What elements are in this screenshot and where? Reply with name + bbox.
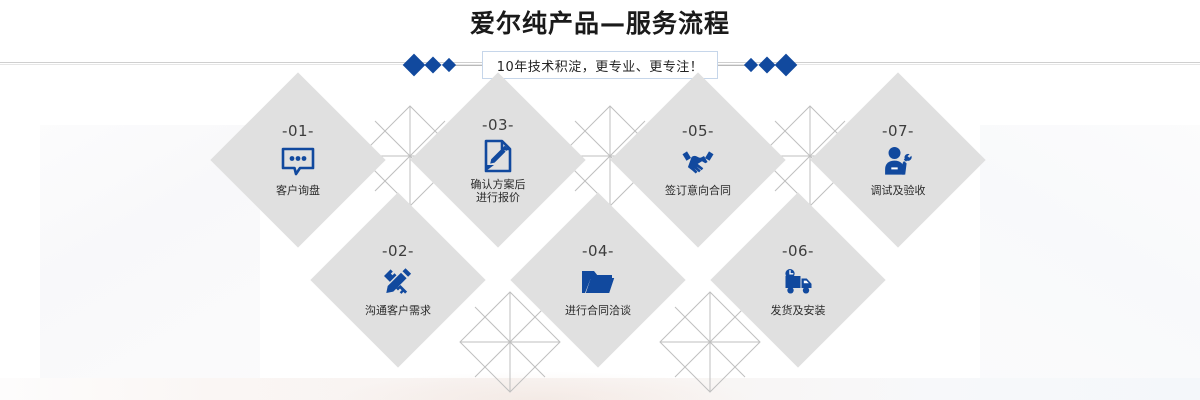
process-step-number: -02- (382, 243, 414, 259)
process-step-label: 签订意向合同 (665, 184, 731, 197)
process-step-number: -01- (282, 123, 314, 139)
process-step-number: -05- (682, 123, 714, 139)
process-step-number: -07- (882, 123, 914, 139)
subtitle-banner: 10年技术积淀，更专业、更专注！ (0, 50, 1200, 80)
diamond-icon-small-left (442, 58, 456, 72)
handshake-icon (681, 145, 715, 179)
chat-bubble-icon (281, 145, 315, 179)
diamond-icon-medium-right (759, 57, 776, 74)
process-step-content: -07-调试及验收 (836, 98, 960, 222)
document-pen-icon (481, 139, 515, 173)
left-diamond-group (406, 57, 454, 73)
right-connector-line (718, 65, 746, 66)
background-texture-right (980, 125, 1200, 400)
process-step-content: -03-确认方案后 进行报价 (436, 98, 560, 222)
process-step-label: 确认方案后 进行报价 (471, 178, 526, 204)
process-step-number: -06- (782, 243, 814, 259)
process-step-content: -04-进行合同洽谈 (536, 218, 660, 342)
page-header: 爱尔纯产品—服务流程 10年技术积淀，更专业、更专注！ (0, 0, 1200, 86)
diamond-icon-medium-left (424, 57, 441, 74)
process-step-tile-07[interactable]: -07-调试及验收 (810, 72, 985, 247)
process-step-label: 进行合同洽谈 (565, 304, 631, 317)
diamond-icon-small-right (744, 58, 758, 72)
process-step-label: 发货及安装 (771, 304, 826, 317)
process-step-content: -06-发货及安装 (736, 218, 860, 342)
page-title: 爱尔纯产品—服务流程 (0, 8, 1200, 40)
pencil-ruler-icon (381, 265, 415, 299)
subtitle-text: 10年技术积淀，更专业、更专注！ (482, 51, 719, 79)
process-step-content: -02-沟通客户需求 (336, 218, 460, 342)
process-step-content: -01-客户询盘 (236, 98, 360, 222)
diamond-icon-large-right (775, 54, 798, 77)
technician-icon (881, 145, 915, 179)
diamond-icon-large-left (402, 54, 425, 77)
process-step-label: 沟通客户需求 (365, 304, 431, 317)
left-connector-line (454, 65, 482, 66)
process-step-label: 调试及验收 (871, 184, 926, 197)
delivery-truck-icon (781, 265, 815, 299)
process-step-content: -05-签订意向合同 (636, 98, 760, 222)
page-stage: 爱尔纯产品—服务流程 10年技术积淀，更专业、更专注！ -01-客户询盘-02-… (0, 0, 1200, 400)
process-step-label: 客户询盘 (276, 184, 320, 197)
right-diamond-group (746, 57, 794, 73)
open-folder-icon (581, 265, 615, 299)
process-step-number: -03- (482, 117, 514, 133)
process-step-number: -04- (582, 243, 614, 259)
